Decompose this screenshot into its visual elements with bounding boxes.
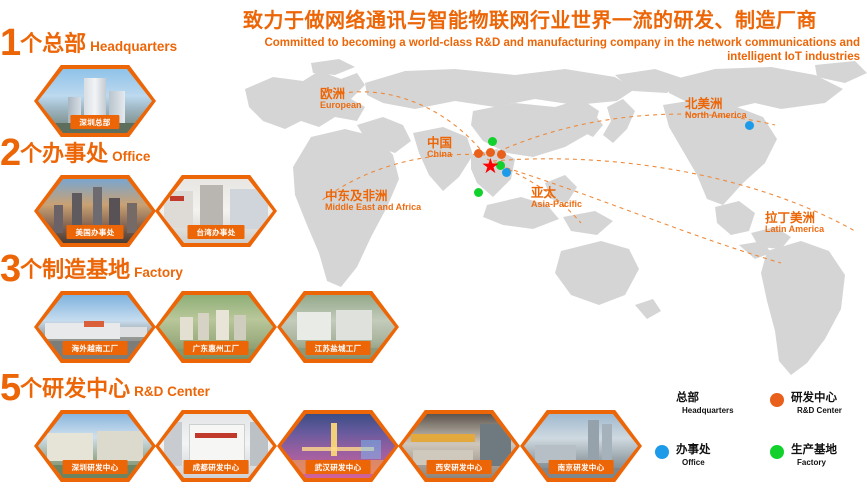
section-label-cn: 个总部 (20, 31, 86, 56)
legend-label-cn: 研发中心 (791, 392, 842, 405)
card-row-office: 美国办事处 台湾办事处 (0, 175, 150, 249)
map-marker-factory (488, 137, 497, 146)
card-image-frame: 深圳研发中心 (38, 414, 152, 478)
location-card-vietnam-factory[interactable]: 海外越南工厂 (34, 291, 156, 363)
card-row-rd-center: 深圳研发中心 成都研发中心 (0, 410, 210, 484)
legend-label-en: Headquarters (676, 405, 734, 416)
card-image-frame: 深圳总部 (38, 69, 152, 133)
location-card-nanjing-rd[interactable]: 南京研发中心 (520, 410, 642, 482)
card-caption: 美国办事处 (67, 225, 124, 239)
section-factory: 3个制造基地Factory 海外越南工厂 (0, 250, 183, 365)
card-image-frame: 美国办事处 (38, 179, 152, 243)
section-rd-center: 5个研发中心R&D Center 深圳研发中心 成都研发中 (0, 369, 210, 484)
map-marker-headquarters-star: ★ (481, 156, 500, 177)
section-label-cn: 个研发中心 (20, 376, 130, 401)
section-count: 2 (0, 132, 20, 174)
location-card-shenzhen-hq[interactable]: 深圳总部 (34, 65, 156, 137)
card-image-frame: 广东惠州工厂 (159, 295, 273, 359)
map-marker-office (502, 168, 511, 177)
legend-label-cn: 生产基地 (791, 444, 837, 457)
map-marker-office (745, 121, 754, 130)
card-image-frame: 海外越南工厂 (38, 295, 152, 359)
section-label-cn: 个制造基地 (20, 257, 130, 282)
map-legend: 总部 Headquarters 研发中心 R&D Center 办事处 Offi… (655, 392, 860, 482)
section-label-cn: 个办事处 (20, 141, 108, 166)
card-row-factory: 海外越南工厂 广东惠州工厂 (0, 291, 183, 365)
card-image-frame: 西安研发中心 (402, 414, 516, 478)
legend-label-en: R&D Center (791, 405, 842, 416)
circle-orange-icon (770, 393, 784, 407)
subtitle-line-1: Committed to becoming a world-class R&D … (220, 36, 860, 50)
section-label-en: Headquarters (90, 39, 177, 54)
circle-green-icon (770, 445, 784, 459)
section-label-en: R&D Center (134, 384, 210, 399)
card-caption: 南京研发中心 (549, 460, 614, 474)
section-heading-factory: 3个制造基地Factory (0, 250, 183, 288)
page-title: 致力于做网络通讯与智能物联网行业世界一流的研发、制造厂商 (200, 8, 860, 34)
card-caption: 深圳研发中心 (63, 460, 128, 474)
card-caption: 深圳总部 (70, 115, 119, 129)
card-image-frame: 台湾办事处 (159, 179, 273, 243)
location-card-chengdu-rd[interactable]: 成都研发中心 (155, 410, 277, 482)
map-label-north-america: 北美洲 North America (685, 98, 747, 121)
card-caption: 成都研发中心 (184, 460, 249, 474)
map-label-china: 中国 China (427, 137, 452, 160)
map-label-middle-east-africa: 中东及非洲 Middle East and Africa (325, 190, 421, 213)
legend-label-en: Office (676, 457, 711, 468)
section-heading-office: 2个办事处Office (0, 134, 150, 172)
card-caption: 江苏盐城工厂 (306, 341, 371, 355)
card-caption: 西安研发中心 (427, 460, 492, 474)
section-label-en: Factory (134, 265, 183, 280)
legend-label-en: Factory (791, 457, 837, 468)
card-caption: 海外越南工厂 (63, 341, 128, 355)
section-heading-rd-center: 5个研发中心R&D Center (0, 369, 210, 407)
card-row-headquarters: 深圳总部 (0, 65, 177, 139)
star-icon (655, 393, 669, 407)
location-card-shenzhen-rd[interactable]: 深圳研发中心 (34, 410, 156, 482)
map-label-asia-pacific: 亚太 Asia-Pacific (531, 187, 582, 210)
section-label-en: Office (112, 149, 150, 164)
legend-label-cn: 办事处 (676, 444, 711, 457)
section-headquarters: 1个总部Headquarters 深圳总部 (0, 24, 177, 139)
card-image-frame: 武汉研发中心 (281, 414, 395, 478)
section-office: 2个办事处Office 美国办事处 (0, 134, 150, 249)
section-count: 1 (0, 22, 20, 64)
card-caption: 广东惠州工厂 (184, 341, 249, 355)
section-heading-headquarters: 1个总部Headquarters (0, 24, 177, 62)
card-caption: 武汉研发中心 (306, 460, 371, 474)
legend-label-cn: 总部 (676, 392, 734, 405)
legend-item-headquarters: 总部 Headquarters (655, 392, 734, 416)
card-caption: 台湾办事处 (188, 225, 245, 239)
card-image-frame: 成都研发中心 (159, 414, 273, 478)
map-marker-factory (474, 188, 483, 197)
card-image-frame: 南京研发中心 (524, 414, 638, 478)
legend-item-rd-center: 研发中心 R&D Center (770, 392, 842, 416)
legend-item-office: 办事处 Office (655, 444, 711, 468)
location-card-xian-rd[interactable]: 西安研发中心 (398, 410, 520, 482)
location-card-wuhan-rd[interactable]: 武汉研发中心 (277, 410, 399, 482)
section-count: 3 (0, 248, 20, 290)
legend-item-factory: 生产基地 Factory (770, 444, 837, 468)
map-label-europe: 欧洲 European (320, 88, 362, 111)
circle-blue-icon (655, 445, 669, 459)
card-image-frame: 江苏盐城工厂 (281, 295, 395, 359)
location-card-usa-office[interactable]: 美国办事处 (34, 175, 156, 247)
map-label-latin-america: 拉丁美洲 Latin America (765, 212, 824, 235)
section-count: 5 (0, 367, 20, 409)
